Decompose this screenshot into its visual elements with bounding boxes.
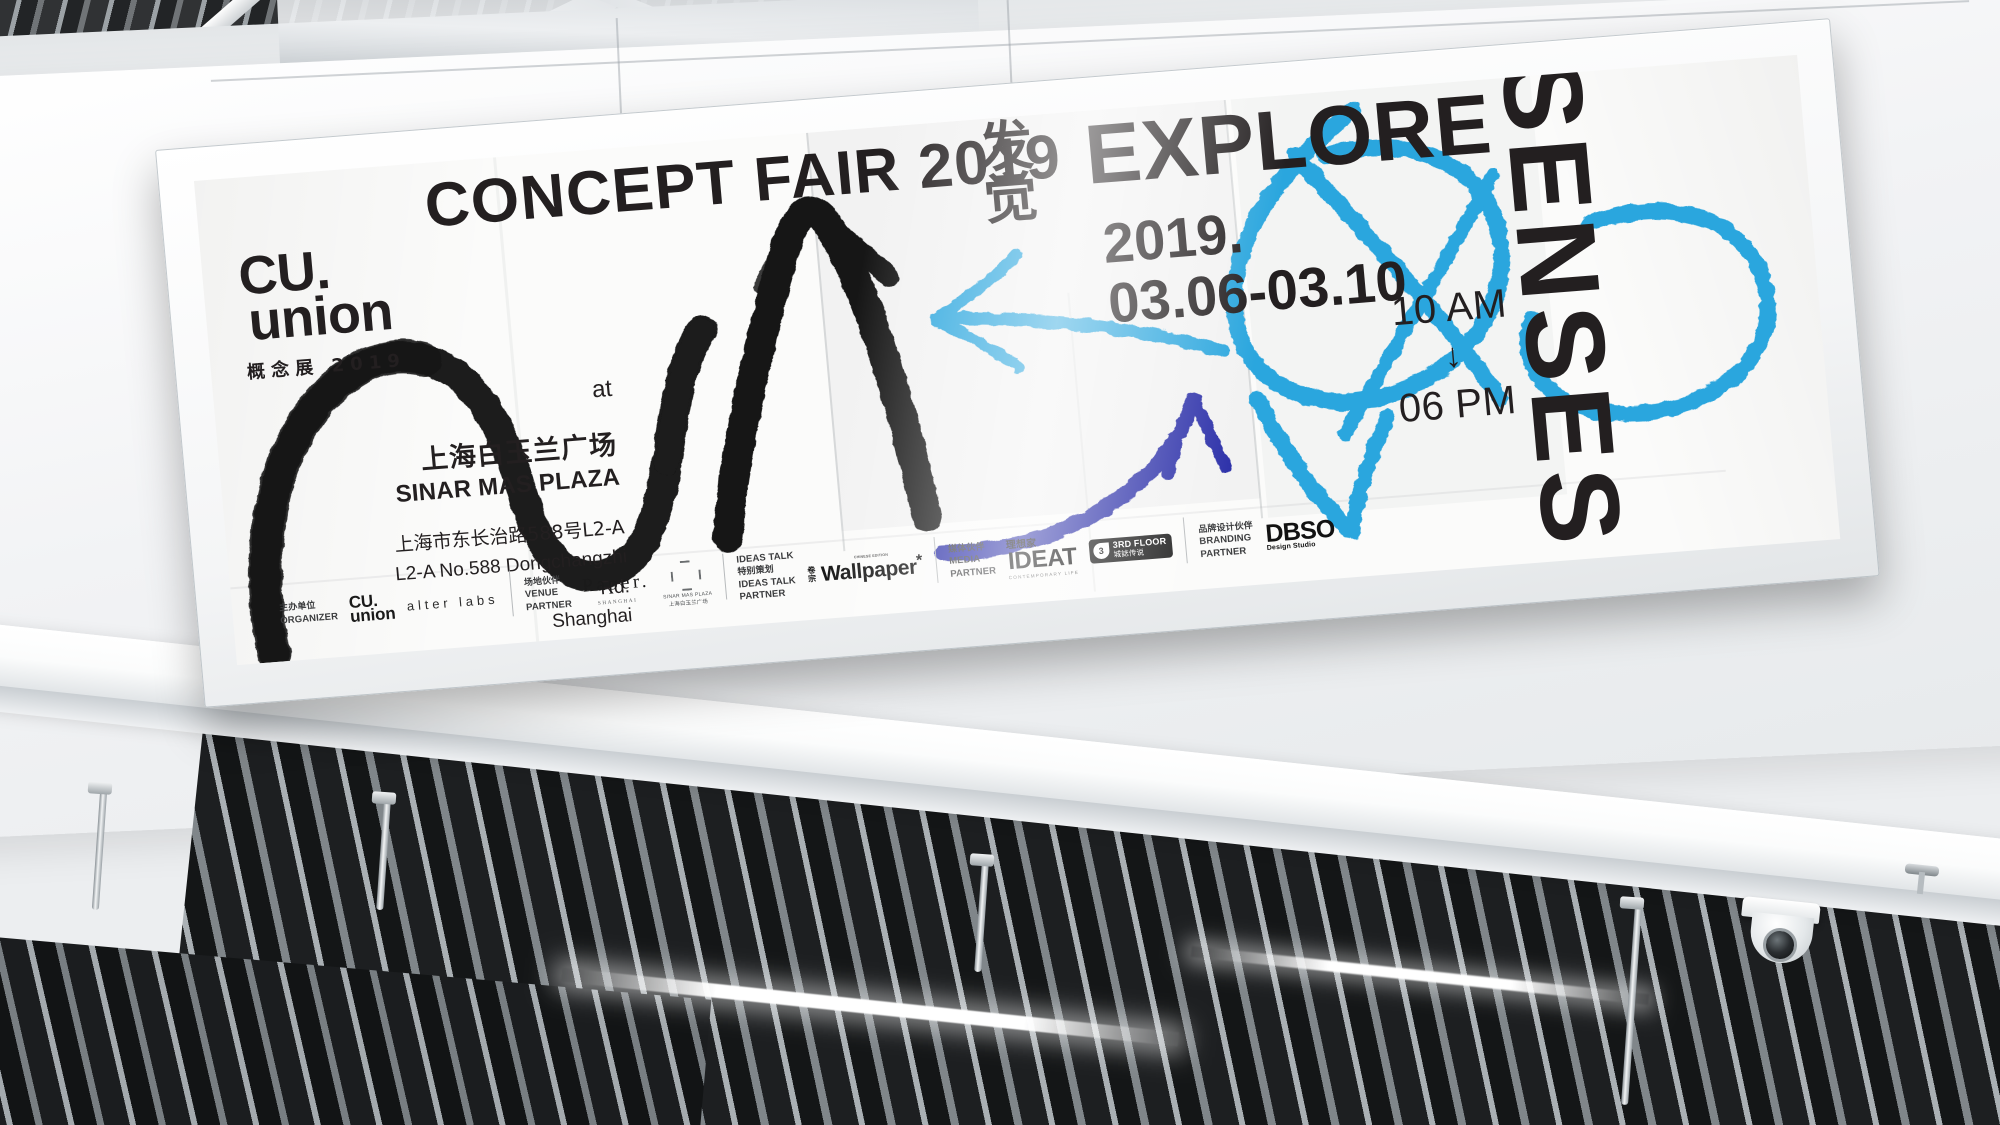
logo-line-2: union [247,288,404,346]
partner-logo-dbso: DBSO Design Studio [1265,518,1337,552]
media-label-en-1: MEDIA [949,554,981,567]
paper-sub: SHANGHAI [584,596,652,607]
third-floor-badge-icon: 3 [1093,542,1110,559]
wallpaper-cn: 卷宗 [806,565,815,583]
branding-label-en-2: PARTNER [1200,546,1247,561]
venue-label-en-1: VENUE [525,587,559,601]
partner-logo-paper: Paper. SHANGHAI [581,571,651,608]
cu-union-logo: CU. union 概念展 2019 [237,241,407,384]
headline-chinese-stack: 发 觉 [977,119,1040,226]
logo-subtitle: 概念展 2019 [246,346,407,384]
time-close: 06 PM [1397,378,1518,431]
third-floor-text: 3RD FLOOR 城誌传说 [1112,537,1167,558]
rod-cap [88,781,113,795]
venue-partner-label: 场地伙伴 VENUE PARTNER [524,574,573,614]
partner-logo-cu-union: CU. union [348,593,396,624]
headline-cn-2: 觉 [981,171,1039,227]
venue-at-label: at [362,375,614,423]
partner-logo-wallpaper: 卷宗 CHINESE EDITIONWallpaper* [806,552,924,588]
sinar-cross-icon [670,560,703,592]
organizer-label: 主办单位 ORGANIZER [279,599,339,628]
dbso-wordmark: DBSO [1265,518,1336,544]
ideas-talk-label-a: IDEAS TALK [736,550,794,565]
wallpaper-star: * [915,552,922,569]
partner-group-venue: 场地伙伴 VENUE PARTNER Paper. SHANGHAI SINAR… [510,553,727,625]
media-partner-label: 媒体伙伴 MEDIA PARTNER [948,541,997,581]
partner-group-ideas-talk: IDEAS TALK 特别策划 IDEAS TALK PARTNER 卷宗 CH… [723,536,938,608]
time-open: 10 AM [1389,282,1508,335]
event-dates: 2019. 03.06-03.10 [1100,191,1409,335]
rod-cap [372,791,397,805]
screenshot-root: CU. union 概念展 2019 CONCEPT FAIR 2019 发 觉… [0,0,2000,1125]
partner-logo-sinar-mas-plaza: SINAR MAS PLAZA 上海白玉兰广场 [660,559,713,609]
ideas-talk-label: IDEAS TALK 特别策划 IDEAS TALK PARTNER [736,550,797,604]
down-arrow-icon: ↓ [1393,330,1514,382]
wallpaper-wordmark: CHINESE EDITIONWallpaper* [820,552,924,587]
partner-logo-alter-labs: alter labs [406,591,499,613]
ideas-talk-label-c: PARTNER [739,588,786,603]
branding-partner-label: 品牌设计伙伴 BRANDING PARTNER [1198,521,1256,562]
rod-cap [970,853,995,867]
ideat-wordmark: IDEAT [1006,546,1078,573]
partner-logo-3rd-floor: 3 3RD FLOOR 城誌传说 [1088,534,1173,564]
rod-cap [1620,896,1645,910]
paper-wordmark: Paper. [581,571,650,597]
cu-union-line2: union [350,607,397,624]
third-floor-cn: 城誌传说 [1113,547,1167,559]
partner-group-branding: 品牌设计伙伴 BRANDING PARTNER DBSO Design Stud… [1184,504,1350,572]
partner-group-media: 媒体伙伴 MEDIA PARTNER 理想家 IDEAT CONTEMPORAR… [934,516,1188,591]
wallpaper-text: Wallpaper [820,555,918,585]
venue-label-en-2: PARTNER [526,599,573,614]
partner-logo-ideat: 理想家 IDEAT CONTEMPORARY LIFE [1005,531,1079,579]
media-label-en-2: PARTNER [950,565,997,580]
